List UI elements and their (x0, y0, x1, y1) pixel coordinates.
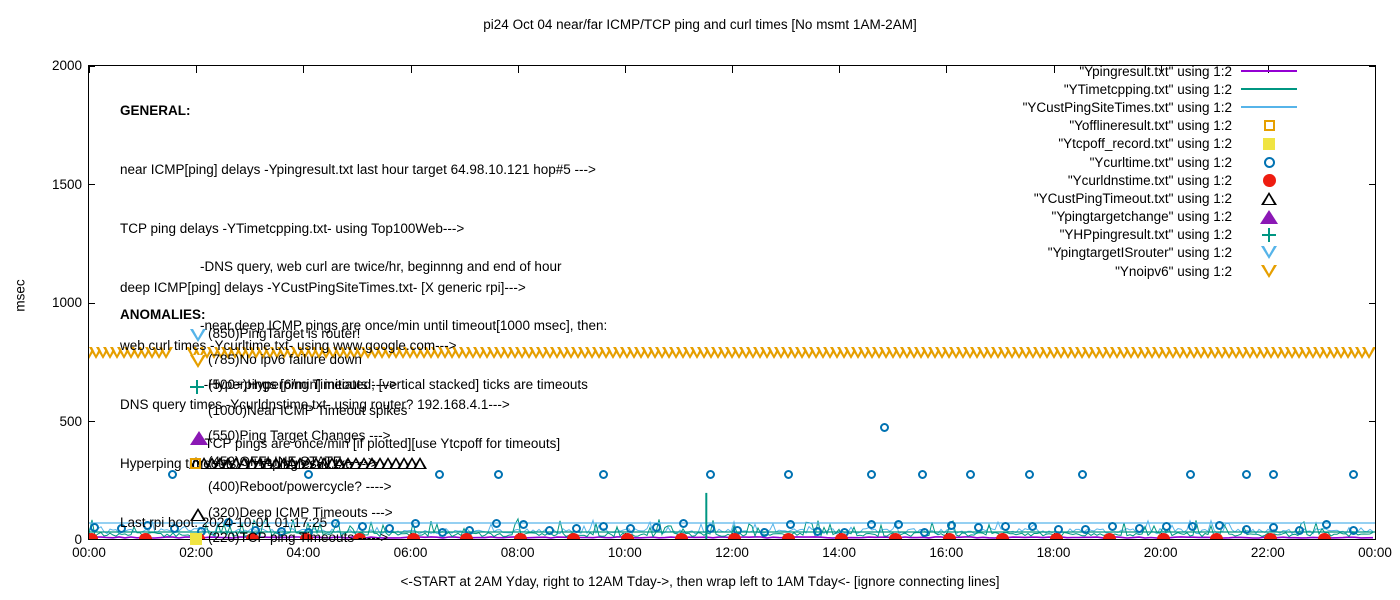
anomaly-row-3: (1000)Near ICMP Timeout spikes (208, 403, 407, 429)
legend-item-6: "Ycurldnstime.txt" using 1:2 (930, 171, 1300, 189)
anomaly-row-8: (220)TCP ping Timeouts -----> (208, 530, 407, 556)
legend-item-5: "Ycurltime.txt" using 1:2 (930, 153, 1300, 171)
x-tick-label-7: 14:00 (799, 545, 879, 560)
curltime-marker (90, 523, 99, 532)
x-axis-label: <-START at 2AM Yday, right to 12AM Tday-… (0, 574, 1400, 589)
anomaly-label-0: (850)PingTarget is router! (208, 326, 360, 341)
open-triangle-up-black-icon (1261, 192, 1277, 205)
curltime-outlier-marker (1025, 470, 1034, 479)
plus-teal-icon (1262, 228, 1276, 242)
x-tick-label-5: 10:00 (585, 545, 665, 560)
legend: "Ypingresult.txt" using 1:2"YTimetcpping… (930, 62, 1300, 280)
legend-label-4: "Ytcpoff_record.txt" using 1:2 (1058, 136, 1232, 151)
open-triangle-up-black-icon (190, 508, 206, 524)
anomaly-row-4: (550)Ping Target Changes ---> (208, 428, 407, 454)
legend-item-2: "YCustPingSiteTimes.txt" using 1:2 (930, 98, 1300, 116)
filled-circle-red-icon (1263, 174, 1276, 187)
x-tick-label-10: 20:00 (1121, 545, 1201, 560)
x-tick-label-12: 00:00 (1335, 545, 1400, 560)
x-tick-label-8: 16:00 (906, 545, 986, 560)
curltime-marker (1001, 522, 1010, 531)
legend-key-line-teal (1238, 80, 1300, 98)
legend-label-1: "YTimetcpping.txt" using 1:2 (1064, 82, 1232, 97)
page-title: pi24 Oct 04 near/far ICMP/TCP ping and c… (0, 17, 1400, 32)
y-tick-label-2000: 2000 (22, 59, 82, 73)
curltime-outlier-marker (1242, 470, 1251, 479)
y-tick-label-1500: 1500 (22, 178, 82, 192)
plus-teal-icon (190, 380, 206, 396)
curltime-outlier-marker (784, 470, 793, 479)
curldnstime-marker (1318, 533, 1331, 539)
general-heading: GENERAL: (120, 101, 596, 121)
curltime-marker (1108, 522, 1117, 531)
anomaly-row-1: (785)No ipv6 failure down (208, 352, 407, 378)
open-square-orange-icon (190, 457, 206, 473)
filled-triangle-up-purple-icon (190, 431, 206, 447)
open-circle-blue-icon (1264, 157, 1275, 168)
anomaly-label-1: (785)No ipv6 failure down (208, 352, 362, 367)
anomalies-heading: ANOMALIES: (120, 307, 206, 322)
legend-item-4: "Ytcpoff_record.txt" using 1:2 (930, 135, 1300, 153)
legend-key-filled-triangle-up-purple (1238, 208, 1300, 226)
legend-line-swatch (1241, 106, 1297, 108)
open-square-orange-icon (1264, 120, 1275, 131)
legend-line-swatch (1241, 88, 1297, 90)
anomaly-row-6: (400)Reboot/powercycle? ----> (208, 479, 407, 505)
filled-triangle-up-purple-icon (1260, 210, 1278, 224)
legend-key-filled-circle-red (1238, 171, 1300, 189)
open-triangle-down-blue-icon (190, 329, 206, 345)
anomaly-row-0: (850)PingTarget is router! (208, 326, 407, 352)
curldnstime-marker (1050, 533, 1063, 539)
legend-label-7: "YCustPingTimeout.txt" using 1:2 (1034, 191, 1232, 206)
legend-item-8: "Ypingtargetchange" using 1:2 (930, 208, 1300, 226)
curltime-outlier-marker (1269, 470, 1278, 479)
legend-key-filled-square-yellow (1238, 135, 1300, 153)
legend-item-3: "Yofflineresult.txt" using 1:2 (930, 117, 1300, 135)
curltime-marker (706, 524, 715, 533)
curltime-marker (894, 520, 903, 529)
anomaly-label-4: (550)Ping Target Changes ---> (208, 428, 390, 443)
legend-item-10: "YpingtargetISrouter" using 1:2 (930, 244, 1300, 262)
curltime-outlier-marker (918, 470, 927, 479)
curltime-marker (867, 520, 876, 529)
x-tick-label-9: 18:00 (1014, 545, 1094, 560)
legend-line-swatch (1241, 70, 1297, 72)
legend-key-plus-teal (1238, 226, 1300, 244)
anomaly-label-6: (400)Reboot/powercycle? ----> (208, 479, 391, 494)
legend-key-open-circle-blue (1238, 153, 1300, 171)
general-line-0: near ICMP[ping] delays -Ypingresult.txt … (120, 160, 596, 180)
curltime-marker (1162, 522, 1171, 531)
x-tick-mark (1375, 533, 1376, 540)
filled-square-yellow-icon (1263, 138, 1275, 150)
curltime-outlier-marker (867, 470, 876, 479)
curltime-outlier-marker (1186, 470, 1195, 479)
legend-key-open-triangle-up-black (1238, 189, 1300, 207)
curltime-marker (760, 528, 769, 537)
x-tick-label-11: 22:00 (1228, 545, 1308, 560)
curltime-marker (1135, 524, 1144, 533)
legend-key-open-square-orange (1238, 117, 1300, 135)
legend-label-0: "Ypingresult.txt" using 1:2 (1079, 64, 1232, 79)
legend-label-5: "Ycurltime.txt" using 1:2 (1090, 155, 1232, 170)
legend-item-11: "Ynoipv6" using 1:2 (930, 262, 1300, 280)
note-line-0: -DNS query, web curl are twice/hr, begin… (200, 257, 607, 277)
curldnstime-marker (675, 533, 688, 539)
curltime-marker (1269, 523, 1278, 532)
anomaly-label-7: (320)Deep ICMP Timeouts ---> (208, 505, 393, 520)
x-tick-label-6: 12:00 (692, 545, 772, 560)
curltime-marker (1215, 521, 1224, 530)
anomaly-row-5: (450)OFFLINE STATE -----> (208, 454, 407, 480)
legend-label-2: "YCustPingSiteTimes.txt" using 1:2 (1023, 100, 1232, 115)
anomaly-row-2: (500+)Hyperping Timeouts ----> (208, 377, 407, 403)
y-tick-label-1000: 1000 (22, 296, 82, 310)
curldnstime-marker (943, 533, 956, 539)
legend-key-open-triangle-down-orange (1238, 262, 1300, 280)
open-triangle-down-orange-icon (190, 355, 206, 371)
anomaly-label-5: (450)OFFLINE STATE -----> (208, 454, 376, 469)
y-tick-label-500: 500 (22, 415, 82, 429)
legend-item-0: "Ypingresult.txt" using 1:2 (930, 62, 1300, 80)
anomaly-label-3: (1000)Near ICMP Timeout spikes (208, 403, 407, 418)
legend-item-9: "YHPpingresult.txt" using 1:2 (930, 226, 1300, 244)
anomaly-label-8: (220)TCP ping Timeouts -----> (208, 530, 388, 545)
anomalies-list: (850)PingTarget is router!(785)No ipv6 f… (208, 326, 407, 556)
noipv6-marker (1362, 347, 1375, 359)
legend-label-10: "YpingtargetISrouter" using 1:2 (1048, 245, 1232, 260)
anomaly-label-2: (500+)Hyperping Timeouts ----> (208, 377, 397, 392)
legend-key-line-purple (1238, 62, 1300, 80)
anomaly-row-7: (320)Deep ICMP Timeouts ---> (208, 505, 407, 531)
filled-square-yellow-icon (190, 533, 206, 549)
curltime-marker (1242, 525, 1251, 534)
curltime-marker (1028, 522, 1037, 531)
legend-label-11: "Ynoipv6" using 1:2 (1115, 264, 1232, 279)
x-tick-label-0: 00:00 (49, 545, 129, 560)
legend-item-1: "YTimetcpping.txt" using 1:2 (930, 80, 1300, 98)
legend-key-open-triangle-down-blue (1238, 244, 1300, 262)
legend-label-8: "Ypingtargetchange" using 1:2 (1052, 209, 1232, 224)
legend-label-3: "Yofflineresult.txt" using 1:2 (1069, 118, 1232, 133)
open-triangle-down-orange-icon (1261, 265, 1277, 278)
legend-label-6: "Ycurldnstime.txt" using 1:2 (1068, 173, 1232, 188)
legend-item-7: "YCustPingTimeout.txt" using 1:2 (930, 189, 1300, 207)
x-tick-mark-top (1375, 66, 1376, 73)
open-triangle-down-blue-icon (1261, 246, 1277, 259)
legend-label-9: "YHPpingresult.txt" using 1:2 (1060, 227, 1232, 242)
legend-key-line-lightblue (1238, 98, 1300, 116)
